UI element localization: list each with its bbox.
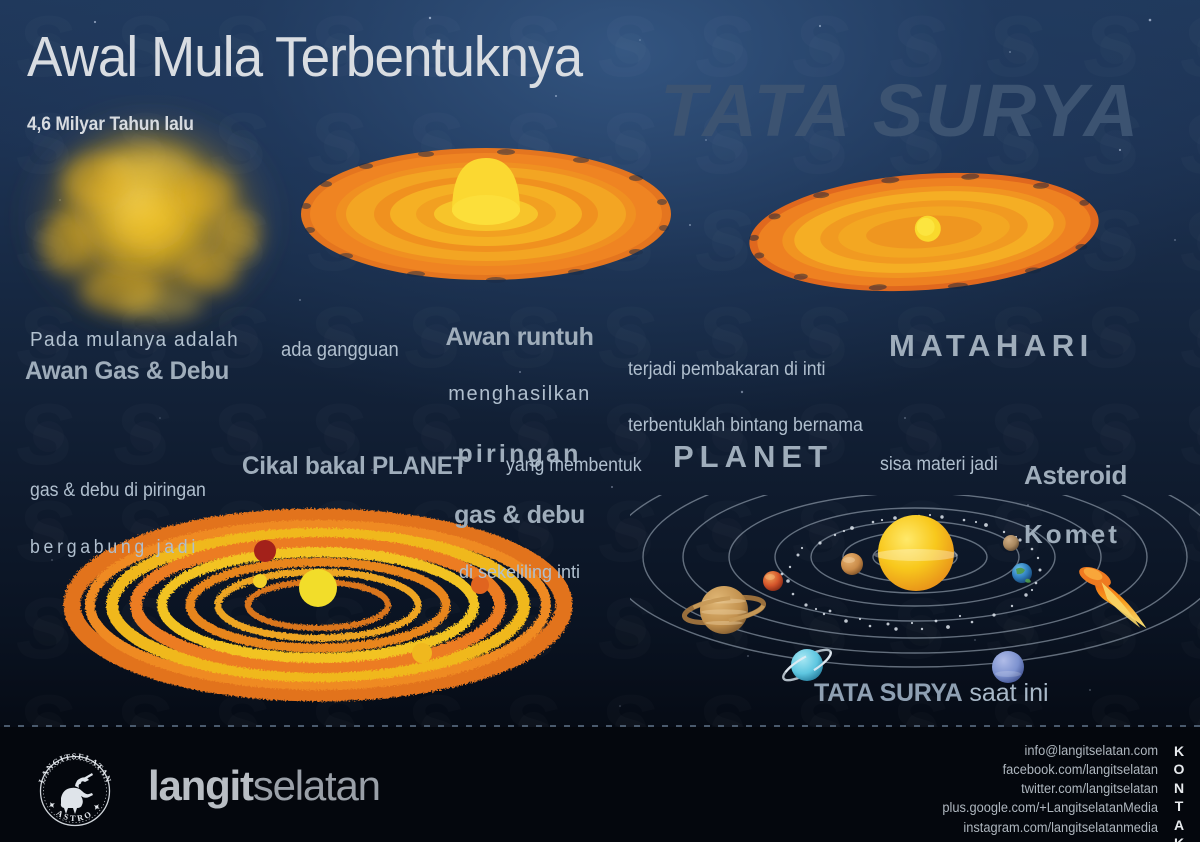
planet-mars — [763, 571, 783, 591]
planet-venus — [841, 553, 863, 575]
label-tata-surya-today: TATA SURYA saat ini — [814, 680, 1049, 706]
contact-label-letter: K — [1168, 834, 1190, 842]
contact-label-letter: T — [1168, 797, 1190, 815]
contact-label-letter: A — [1168, 816, 1190, 834]
label-cikal-bakal-planet: Cikal bakal PLANET — [242, 453, 467, 479]
caption-disturbance: ada gangguan — [281, 340, 399, 361]
caption-collapse-line1: Awan runtuh — [432, 324, 607, 350]
caption-collapse-line2: menghasilkan — [432, 384, 607, 405]
logo-emblem — [61, 773, 93, 814]
contact-instagram[interactable]: instagram.com/langitselatanmedia — [942, 818, 1158, 837]
langitselatan-logo: LANGITSELATAN ✦ ASTRO ✦ — [32, 748, 118, 834]
brand-wordmark: langitselatan — [148, 762, 380, 810]
caption-planetesimal-line1: gas & debu di piringan — [30, 481, 206, 501]
footer-divider — [0, 725, 1200, 727]
label-asteroid-komet-block: Asteroid Komet — [1024, 428, 1127, 582]
caption-cloud-line1: Pada mulanya adalah — [30, 330, 239, 351]
label-tata-surya-today-light: saat ini — [962, 679, 1048, 707]
contact-email[interactable]: info@langitselatan.com — [942, 741, 1158, 760]
contact-list: info@langitselatan.com facebook.com/lang… — [931, 741, 1158, 837]
caption-star-line2: terbentuklah bintang bernama — [628, 416, 863, 436]
label-matahari: MATAHARI — [889, 330, 1094, 363]
protoplanet-yellow-small — [253, 574, 267, 588]
brand-light: selatan — [253, 762, 380, 809]
protoplanet-yellow-lower — [412, 643, 432, 663]
caption-planetesimal-line2: bergabung jadi — [30, 538, 206, 558]
label-planet: PLANET — [673, 441, 833, 474]
caption-collapse-line4: gas & debu — [432, 502, 607, 528]
label-tata-surya-today-bold: TATA SURYA — [814, 679, 962, 707]
protoplanet-red — [254, 540, 276, 562]
contact-label-vertical: KONTAK — [1168, 742, 1190, 842]
caption-cloud-line2: Awan Gas & Debu — [25, 358, 229, 384]
caption-planetesimal-block: gas & debu di piringan bergabung jadi — [30, 447, 219, 592]
contact-googleplus[interactable]: plus.google.com/+LangitselatanMedia — [942, 798, 1158, 817]
planet-saturn — [683, 586, 765, 634]
collapsing-cloud-disk-illustration — [296, 138, 676, 298]
infographic-poster: S — [0, 0, 1200, 842]
contact-twitter[interactable]: twitter.com/langitselatan — [942, 779, 1158, 798]
contact-label-letter: O — [1168, 760, 1190, 778]
page-title: Awal Mula Terbentuknya — [27, 28, 582, 88]
page-title-tata-surya: TATA SURYA — [660, 72, 1140, 150]
caption-leftover-connector: sisa materi jadi — [880, 455, 998, 475]
caption-collapse-line5: di sekeliling inti — [432, 563, 607, 582]
label-asteroid: Asteroid — [1024, 462, 1127, 489]
page-subtitle: 4,6 Milyar Tahun lalu — [27, 115, 194, 135]
contact-label-letter: N — [1168, 779, 1190, 797]
brand-bold: langit — [148, 762, 253, 809]
contact-facebook[interactable]: facebook.com/langitselatan — [942, 760, 1158, 779]
label-komet: Komet — [1024, 521, 1127, 548]
sun-formation-disk-illustration — [744, 170, 1104, 300]
protosun — [299, 569, 337, 607]
planet-mercury — [1003, 535, 1019, 551]
contact-label-letter: K — [1168, 742, 1190, 760]
caption-star-line1: terjadi pembakaran di inti — [628, 360, 863, 380]
logo-text-top: LANGITSELATAN — [37, 752, 113, 784]
caption-planets-connector: yang membentuk — [506, 456, 642, 476]
